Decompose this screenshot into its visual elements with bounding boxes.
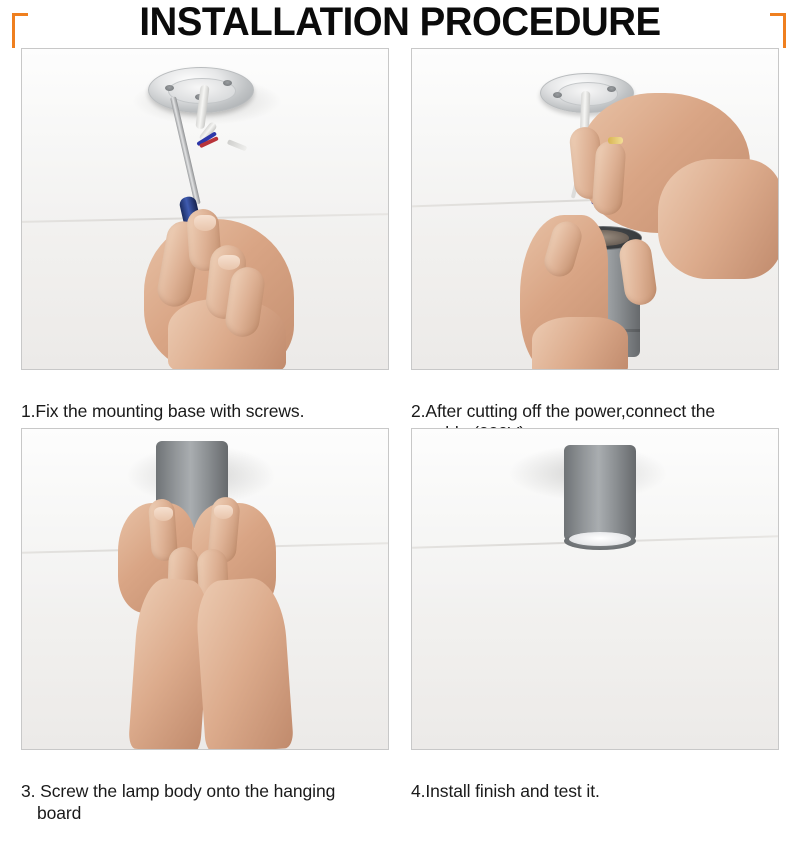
- lamp-lens-illuminated: [569, 532, 631, 546]
- forearm-lower: [532, 317, 628, 370]
- step-1-caption: 1.Fix the mounting base with screws.: [21, 378, 389, 422]
- step-4-caption: 4.Install finish and test it.: [411, 758, 779, 802]
- corner-bracket-right-icon: [770, 13, 786, 48]
- step-1-caption-line1: 1.Fix the mounting base with screws.: [21, 401, 304, 421]
- ceiling-lower-surface: [412, 608, 778, 749]
- step-3-caption: 3. Screw the lamp body onto the hanging …: [21, 758, 389, 846]
- step-2-caption-line1: 2.After cutting off the power,connect th…: [411, 401, 715, 421]
- step-3-photo: [21, 428, 389, 750]
- step-card-3: 3. Screw the lamp body onto the hanging …: [21, 428, 389, 846]
- step-1-photo: [21, 48, 389, 370]
- step-3-caption-line2: board: [21, 802, 389, 824]
- forearm-upper: [658, 159, 779, 279]
- step-4-photo: [411, 428, 779, 750]
- step-4-caption-line1: 4.Install finish and test it.: [411, 781, 600, 801]
- step-card-2: 2.After cutting off the power,connect th…: [411, 48, 779, 466]
- step-3-caption-line1: 3. Screw the lamp body onto the hanging: [21, 781, 335, 801]
- installed-lamp-body: [564, 445, 636, 541]
- base-screw-hole: [607, 86, 616, 92]
- fingernail: [214, 505, 233, 519]
- finger-index-upper: [591, 140, 626, 216]
- base-screw-hole: [165, 85, 174, 91]
- fingernail: [218, 255, 240, 270]
- fingernail: [154, 507, 173, 521]
- fingernail: [194, 215, 216, 231]
- steps-grid: 1.Fix the mounting base with screws.: [0, 48, 800, 800]
- page-title: INSTALLATION PROCEDURE: [16, 0, 784, 45]
- base-screw-hole: [223, 80, 232, 86]
- ring-jewelry: [608, 137, 623, 144]
- base-screw-hole: [553, 92, 562, 98]
- step-card-1: 1.Fix the mounting base with screws.: [21, 48, 389, 422]
- step-2-photo: [411, 48, 779, 370]
- step-card-4: 4.Install finish and test it.: [411, 428, 779, 802]
- header: INSTALLATION PROCEDURE: [0, 0, 800, 48]
